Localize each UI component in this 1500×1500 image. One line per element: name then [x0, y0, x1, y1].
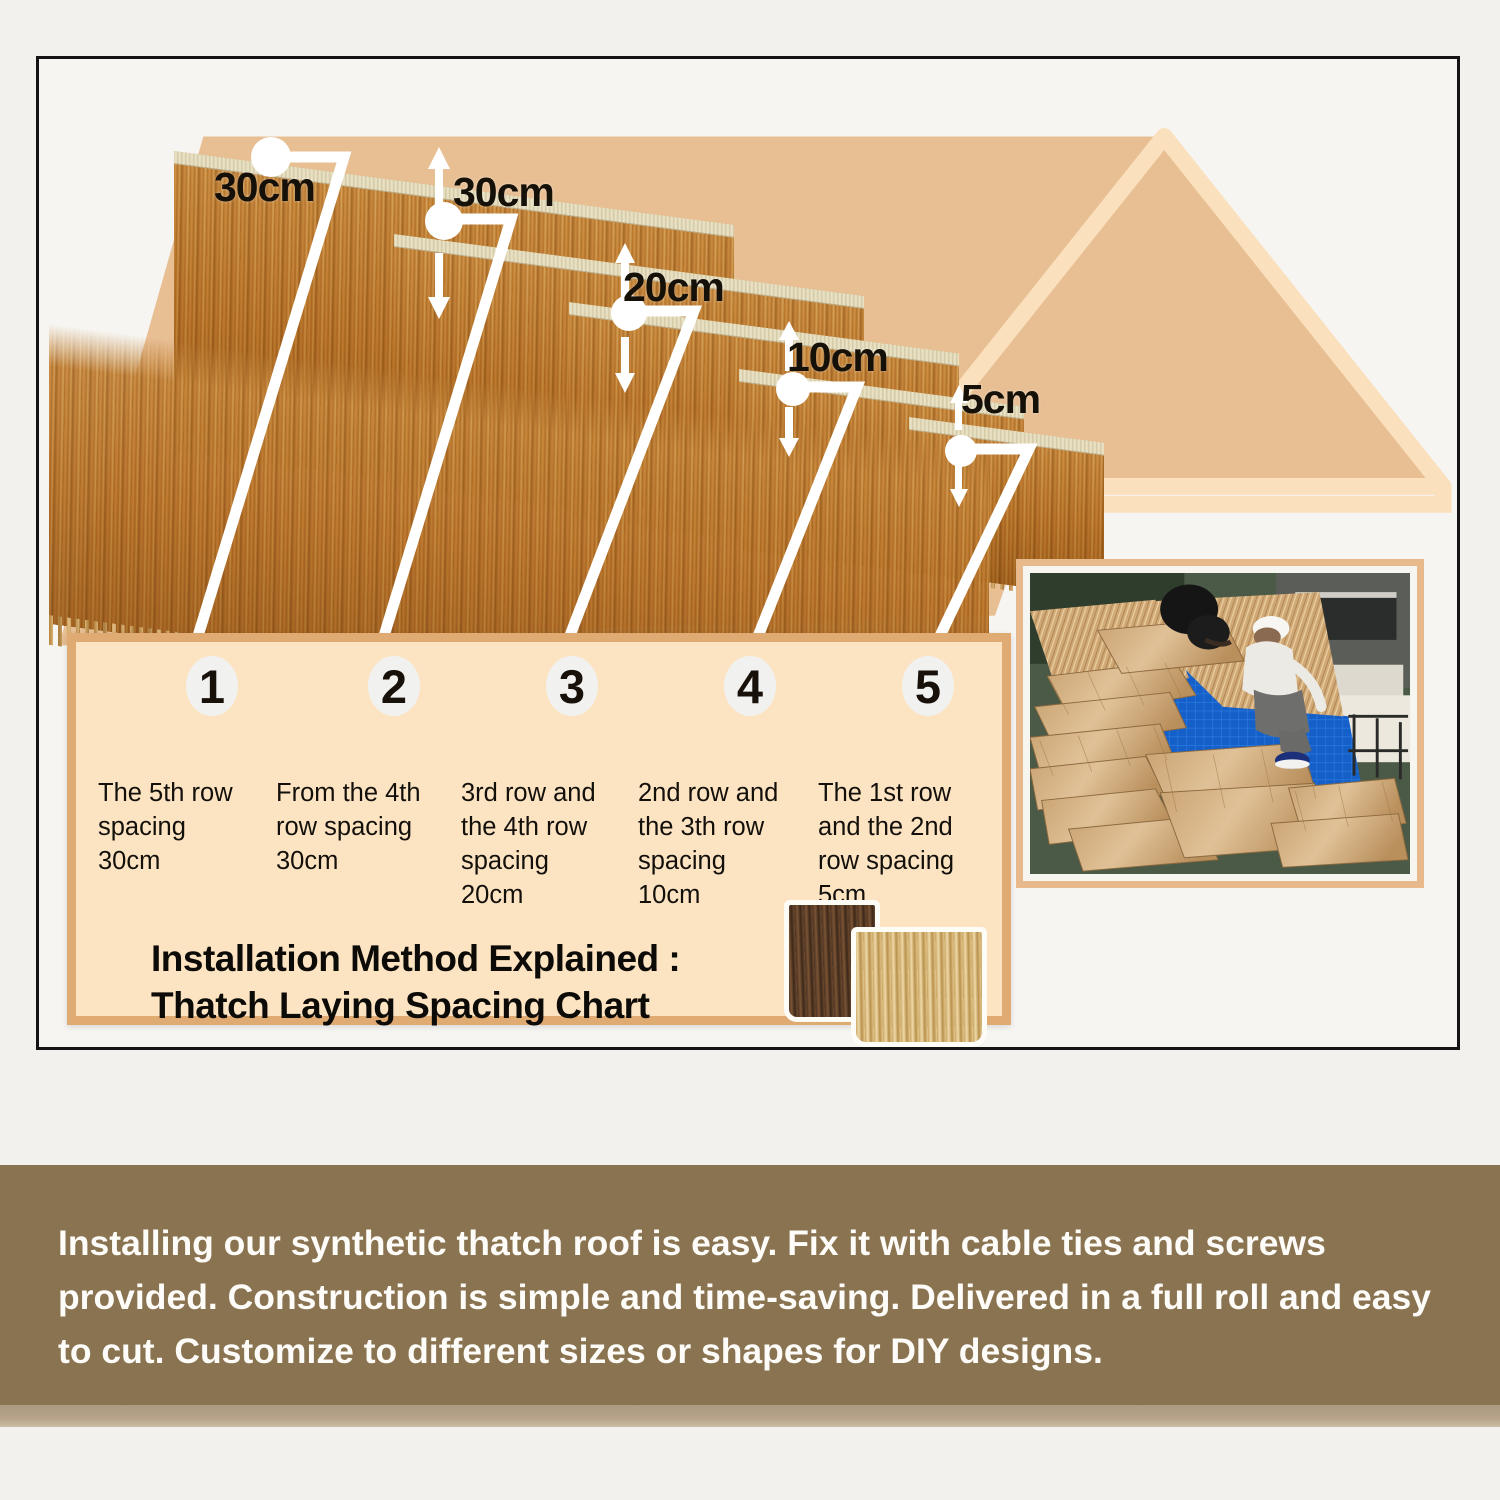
spacing-info-panel: 1 2 3 4 5 The 5th row spacing 30cm From … [67, 633, 1011, 1025]
installation-diagram-panel: 30cm 30cm 20cm 10cm 5cm 1 2 3 4 5 The 5t… [36, 56, 1460, 1050]
step-number-2: 2 [368, 656, 420, 716]
installation-photo [1030, 573, 1410, 874]
banner-bottom-strip [0, 1405, 1500, 1427]
callout-leader-lines [39, 59, 1059, 679]
step-description-5: The 1st row and the 2nd row spacing 5cm [818, 776, 993, 913]
banner-text: Installing our synthetic thatch roof is … [58, 1217, 1442, 1379]
measurement-label-0: 30cm [214, 164, 315, 211]
step-description-1: The 5th row spacing 30cm [98, 776, 273, 878]
bottom-info-banner: Installing our synthetic thatch roof is … [0, 1165, 1500, 1405]
chart-title: Installation Method Explained : Thatch L… [151, 936, 680, 1029]
step-description-3: 3rd row and the 4th row spacing 20cm [461, 776, 636, 913]
step-description-2: From the 4th row spacing 30cm [276, 776, 451, 878]
measurement-label-1: 30cm [453, 169, 554, 216]
step-number-5: 5 [902, 656, 954, 716]
step-number-4: 4 [724, 656, 776, 716]
measurement-label-2: 20cm [623, 264, 724, 311]
installation-photo-frame [1016, 559, 1424, 888]
step-number-1: 1 [186, 656, 238, 716]
photo-illustration [1030, 573, 1410, 874]
step-number-3: 3 [546, 656, 598, 716]
thatch-roof-illustration [39, 59, 1059, 679]
measurement-label-4: 5cm [961, 376, 1040, 423]
thatch-product-light [856, 932, 982, 1042]
measurement-label-3: 10cm [787, 334, 888, 381]
step-description-4: 2nd row and the 3th row spacing 10cm [638, 776, 813, 913]
